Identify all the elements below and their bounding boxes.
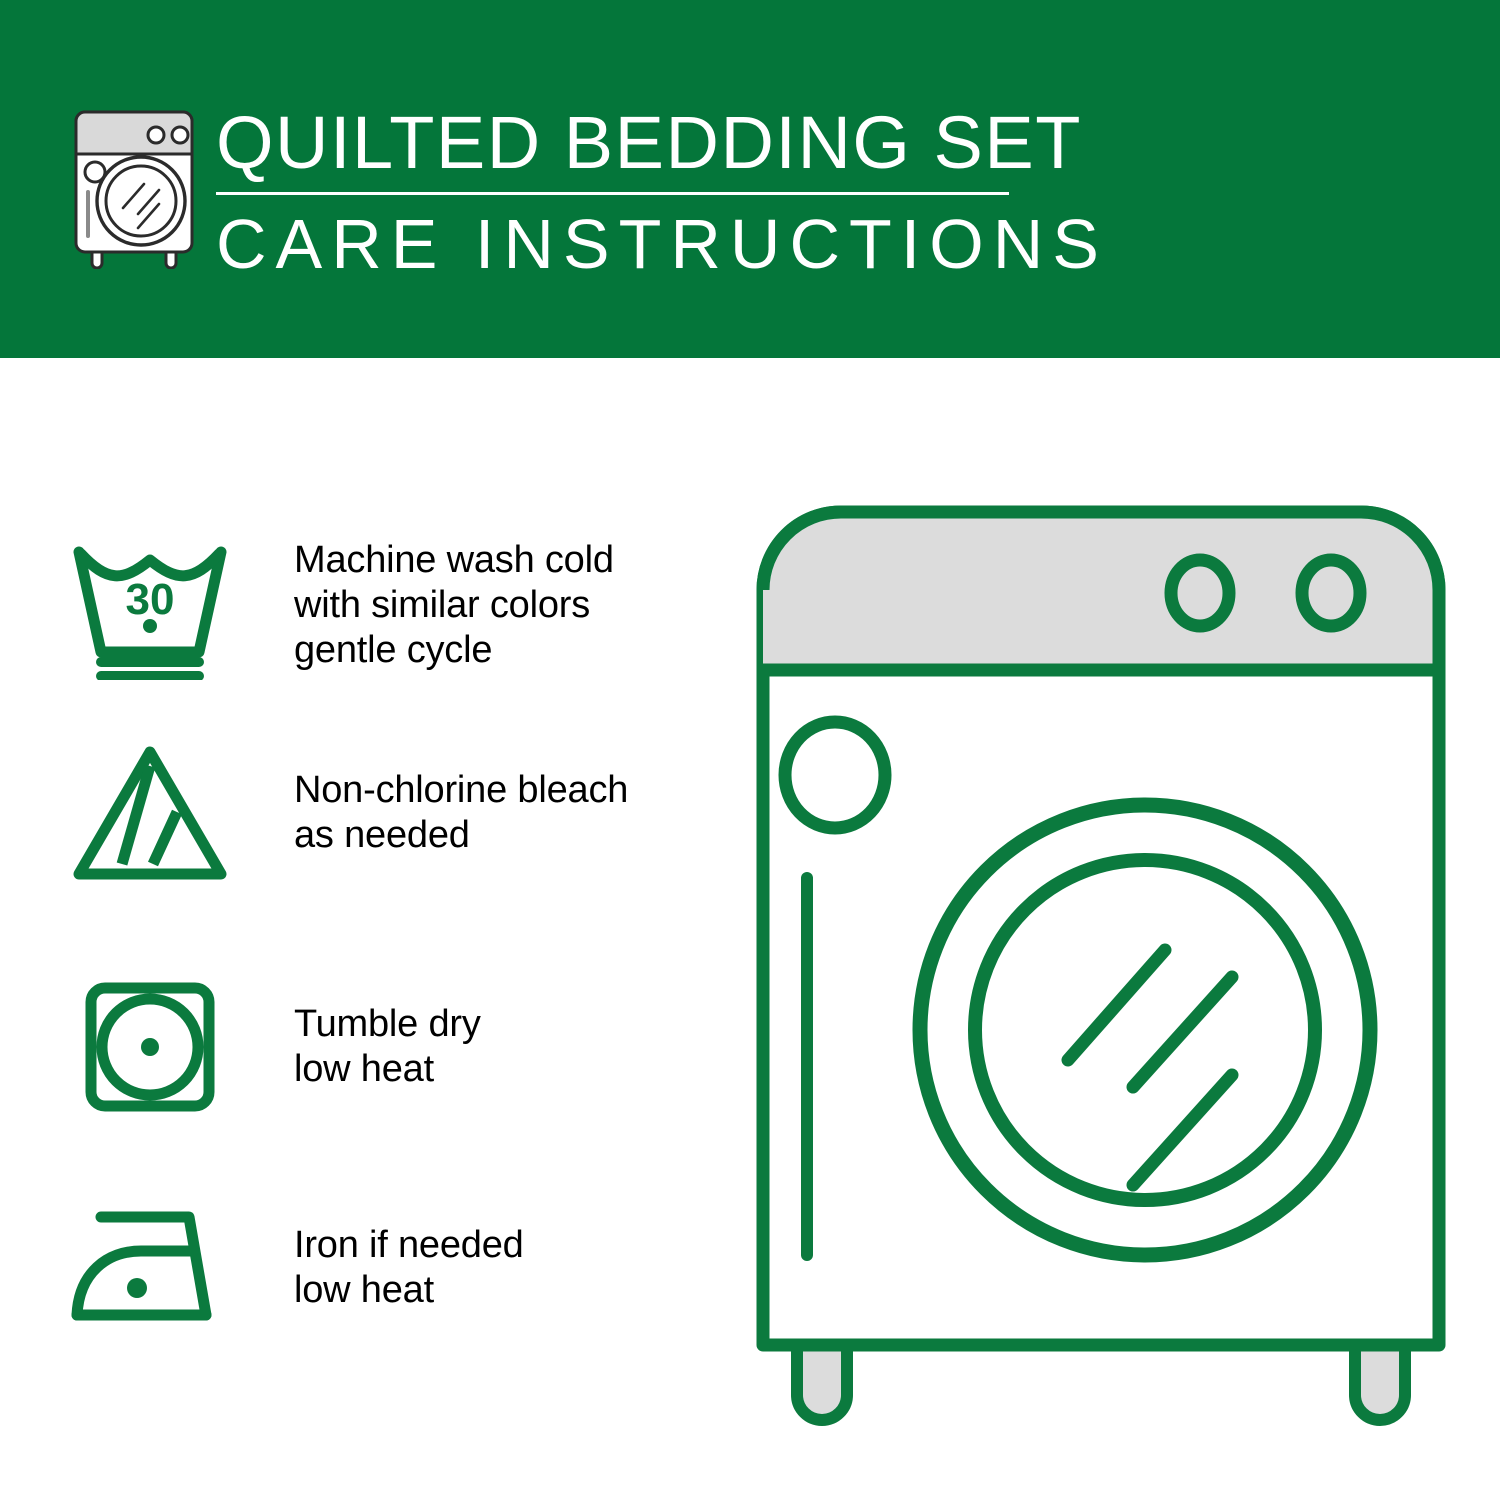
instruction-text-iron: Iron if needed low heat — [294, 1223, 524, 1313]
page-subtitle: CARE INSTRUCTIONS — [216, 205, 1016, 283]
wash-temp-label: 30 — [126, 575, 175, 624]
instruction-line: as needed — [294, 813, 628, 858]
instruction-line: low heat — [294, 1047, 481, 1092]
instruction-line: Iron if needed — [294, 1223, 524, 1268]
instruction-line: gentle cycle — [294, 628, 614, 673]
triangle-non-chlorine-bleach-icon — [0, 738, 300, 888]
title-divider — [216, 192, 1009, 195]
instruction-text-wash: Machine wash cold with similar colors ge… — [294, 538, 614, 673]
instruction-line: with similar colors — [294, 583, 614, 628]
instruction-row-tumble-dry: Tumble dry low heat — [0, 962, 740, 1132]
instruction-line: Tumble dry — [294, 1002, 481, 1047]
header-text-block: QUILTED BEDDING SET CARE INSTRUCTIONS — [216, 102, 1016, 283]
instruction-text-tumble-dry: Tumble dry low heat — [294, 1002, 481, 1092]
instruction-row-bleach: Non-chlorine bleach as needed — [0, 728, 740, 898]
front-load-washing-machine-illustration — [745, 495, 1455, 1445]
iron-low-heat-icon — [0, 1193, 300, 1343]
page-title: QUILTED BEDDING SET — [216, 102, 1016, 184]
instruction-line: Machine wash cold — [294, 538, 614, 583]
care-instructions-page: QUILTED BEDDING SET CARE INSTRUCTIONS 30 — [0, 0, 1500, 1500]
instruction-row-wash: 30 Machine wash cold with similar colors… — [0, 520, 740, 690]
instruction-line: low heat — [294, 1268, 524, 1313]
instruction-row-iron: Iron if needed low heat — [0, 1188, 740, 1348]
tumble-dry-low-heat-icon — [0, 972, 300, 1122]
wash-tub-30-gentle-icon: 30 — [0, 530, 300, 680]
header-banner: QUILTED BEDDING SET CARE INSTRUCTIONS — [0, 0, 1500, 358]
washing-machine-icon — [62, 104, 212, 269]
instruction-text-bleach: Non-chlorine bleach as needed — [294, 768, 628, 858]
instruction-line: Non-chlorine bleach — [294, 768, 628, 813]
